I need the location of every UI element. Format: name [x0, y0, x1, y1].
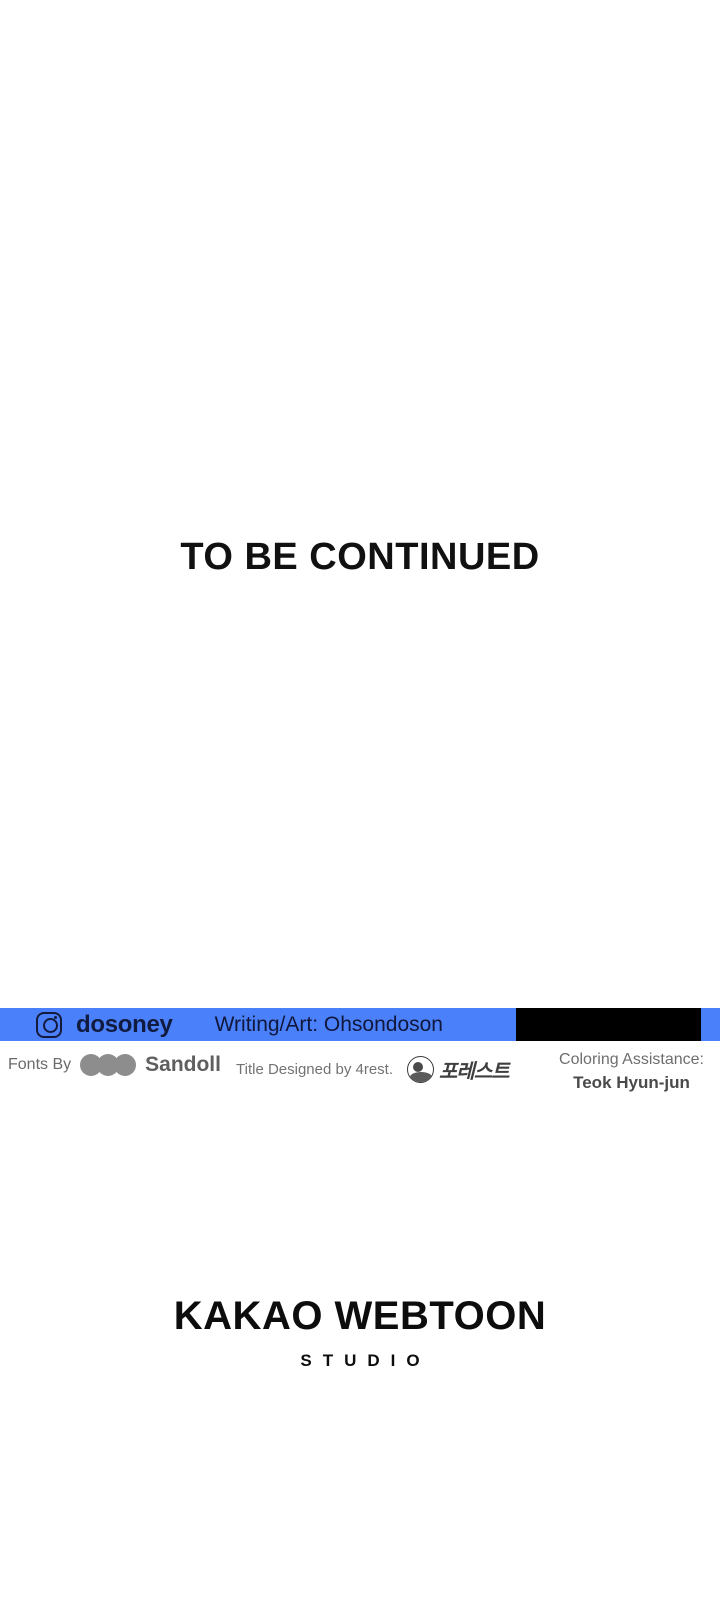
- instagram-icon: [36, 1012, 62, 1038]
- sandoll-logo-icon: [80, 1054, 136, 1076]
- redacted-block: [516, 1008, 701, 1041]
- forest-brand-korean-label: 포레스트: [439, 1055, 509, 1084]
- coloring-assistance-label: Coloring Assistance:: [559, 1048, 704, 1071]
- forest-studio-icon: [407, 1056, 434, 1083]
- publisher-subtitle: STUDIO: [0, 1351, 720, 1371]
- instagram-handle-label: dosoney: [76, 1011, 173, 1039]
- title-designed-by-label: Title Designed by 4rest.: [236, 1061, 393, 1078]
- coloring-credit: Coloring Assistance: Teok Hyun-jun: [559, 1048, 704, 1094]
- fonts-by-label: Fonts By: [8, 1056, 71, 1074]
- production-credits-row: Fonts By Sandoll Title Designed by 4rest…: [0, 1043, 720, 1097]
- fonts-credit: Fonts By Sandoll: [8, 1053, 221, 1077]
- to-be-continued-text: TO BE CONTINUED: [0, 528, 720, 586]
- publisher-name: KAKAO WEBTOON: [0, 1292, 720, 1340]
- writing-art-credit-label: Writing/Art: Ohsondoson: [215, 1013, 443, 1037]
- publisher-logo: KAKAO WEBTOON STUDIO: [0, 1292, 720, 1371]
- sandoll-brand-label: Sandoll: [145, 1053, 221, 1077]
- webtoon-episode-end-page: TO BE CONTINUED dosoney Writing/Art: Ohs…: [0, 0, 720, 1600]
- coloring-assistant-name: Teok Hyun-jun: [559, 1071, 704, 1094]
- title-design-credit: Title Designed by 4rest. 포레스트: [236, 1055, 509, 1084]
- instagram-handle-block[interactable]: dosoney: [36, 1011, 173, 1039]
